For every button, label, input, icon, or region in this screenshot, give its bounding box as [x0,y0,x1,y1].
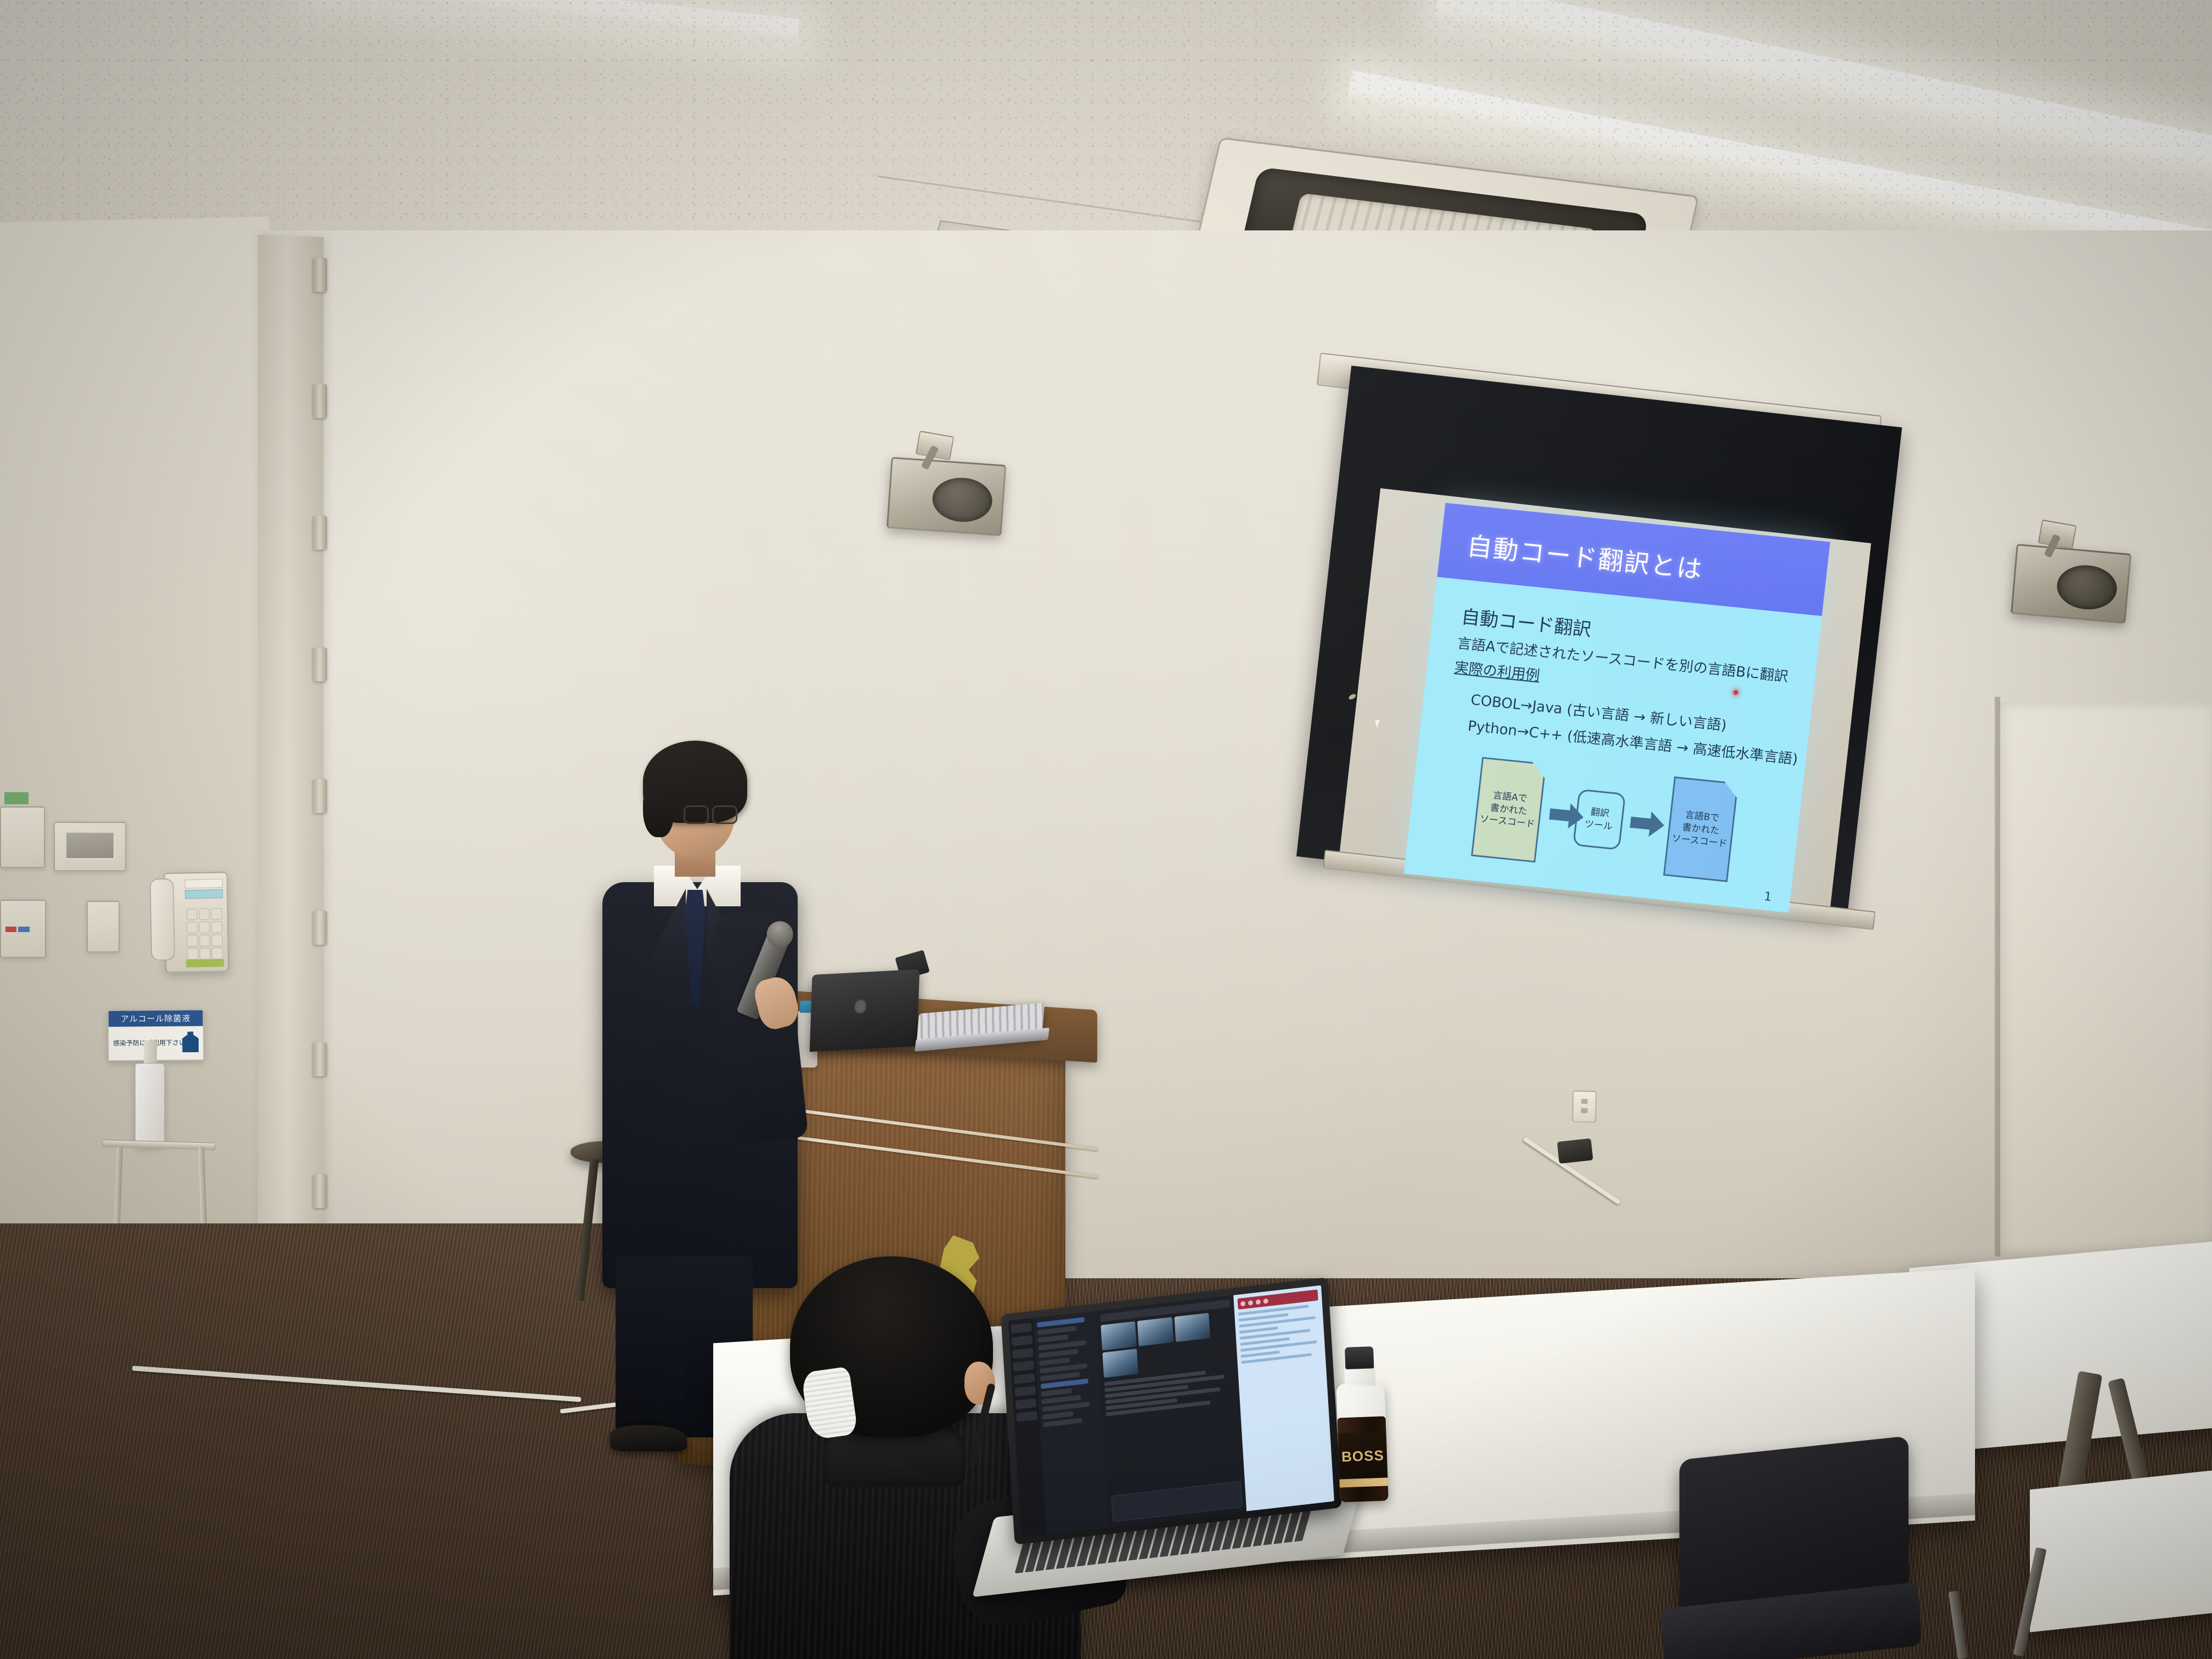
ceiling-light-strip [306,0,800,44]
document-window[interactable] [1233,1285,1334,1511]
coffee-bottle-cap [1345,1346,1374,1369]
slide-diagram: 言語Aで 書かれた ソースコード 翻訳 ツール 言語Bで 書かれた ソースコード [1404,746,1803,911]
projected-slide: 自動コード翻訳とは 自動コード翻訳 言語Aで記述されたソースコードを別の言語Bに… [1404,503,1830,912]
speaker-cone-icon [931,476,994,524]
toolbar-button-icon[interactable] [1256,1299,1261,1305]
coffee-brand-label: BOSS [1338,1431,1388,1480]
speaker-cone-icon [2055,563,2119,612]
presenter-shoe [610,1425,687,1452]
hand-sanitizer-icon [182,1031,199,1052]
wall-corner-edge [1995,697,2000,1256]
toolbar-button-icon[interactable] [1263,1298,1268,1304]
app-rail-icon[interactable] [1014,1373,1035,1384]
wall-panel-hinge [313,516,327,550]
image-thumbnail[interactable] [1101,1321,1137,1350]
coffee-bottle: BOSS [1330,1346,1393,1502]
eyeglasses-icon [684,805,736,822]
left-wall-face [0,217,269,1385]
toolbar-button-icon[interactable] [1240,1301,1245,1306]
channel-item[interactable] [1042,1411,1074,1419]
phone-keypad[interactable] [187,908,223,960]
alarm-indicator-blue [18,927,29,932]
channel-item[interactable] [1043,1418,1082,1427]
toolbar-button-icon[interactable] [1248,1300,1253,1305]
laptop-lid [1001,1277,1342,1545]
wall-panel-hinge [313,647,327,681]
projection-screen-assembly: 自動コード翻訳とは 自動コード翻訳 言語Aで記述されたソースコードを別の言語Bに… [1306,384,1898,905]
light-dimmer-switch[interactable] [87,901,120,952]
app-rail-icon[interactable] [1014,1386,1036,1397]
seminar-room-photo: 自動コード翻訳とは 自動コード翻訳 言語Aで記述されたソースコードを別の言語Bに… [0,0,2212,1659]
fire-extinguisher-label-box [0,900,46,958]
wall-power-outlet[interactable] [1572,1091,1596,1123]
ac-control-panel[interactable] [54,822,126,871]
app-rail-icon[interactable] [1012,1335,1033,1346]
arrow-right-icon [1629,810,1666,838]
document-line [1241,1351,1279,1358]
image-thumbnail-grid[interactable] [1101,1312,1216,1378]
diagram-source-document: 言語Aで 書かれた ソースコード [1471,757,1547,863]
ceiling-light-strip [1433,0,2212,188]
wall-panel-hinge [313,258,327,292]
alarm-indicator-red [5,927,16,932]
channel-item[interactable] [1037,1326,1077,1335]
slide-line-examples-label: 実際の利用例 [1454,656,1541,685]
coffee-bottle-neck [1344,1366,1375,1387]
wall-panel-hinge [313,779,327,813]
wall-speaker-left [887,457,1007,536]
wall-telephone[interactable] [163,872,229,973]
channel-item[interactable] [1037,1317,1085,1328]
right-wall-recess [1997,702,2212,1256]
speaker-body [2011,544,2131,624]
document-text-lines [1238,1304,1321,1364]
channel-item[interactable] [1038,1334,1069,1342]
audience-laptop[interactable] [1001,1277,1342,1545]
phone-label-blue [185,889,223,899]
diagram-target-document: 言語Bで 書かれた ソースコード [1663,776,1739,882]
chat-message-pane[interactable] [1096,1295,1246,1527]
diagram-translation-tool: 翻訳 ツール [1573,789,1626,850]
phone-indicator-strip [186,959,224,967]
app-rail-icon[interactable] [1015,1398,1037,1409]
alarm-indicator-green [4,792,29,804]
image-thumbnail[interactable] [1174,1313,1210,1342]
presenter-macbook[interactable] [810,969,920,1052]
channel-item[interactable] [1039,1357,1070,1365]
sanitizer-pump[interactable] [144,1040,157,1066]
floor-power-box [1557,1138,1593,1164]
phone-handset[interactable] [150,878,176,961]
wall-panel-hinge [313,384,327,418]
laser-pointer-dot [1733,690,1739,695]
app-rail-icon[interactable] [1016,1411,1037,1422]
app-rail-icon[interactable] [1011,1323,1032,1334]
slide-page-number: 1 [1763,890,1773,904]
app-rail-icon[interactable] [1013,1361,1034,1372]
channel-item[interactable] [1039,1349,1078,1358]
side-table-right-lower [2030,1462,2212,1632]
wall-panel-hinge [313,1174,327,1208]
alarm-color-strip [5,927,41,932]
laptop-screen[interactable] [1008,1285,1334,1537]
speaker-body [887,457,1007,536]
wall-speaker-right [2011,544,2131,624]
thermostat-display [65,831,115,860]
sanitizer-sign-line1: 感染予防に [113,1039,146,1048]
coffee-label-band [1339,1477,1387,1487]
wall-panel-hinge [313,911,327,945]
wall-panel-hinge [313,1042,327,1076]
image-thumbnail[interactable] [1137,1317,1173,1346]
chat-message-input[interactable] [1111,1481,1243,1522]
image-thumbnail[interactable] [1102,1348,1138,1378]
channel-item[interactable] [1041,1388,1073,1396]
emergency-alarm-box[interactable] [0,806,45,868]
sanitizer-sign-title: アルコール除菌液 [109,1010,203,1026]
slide-body: 自動コード翻訳 言語Aで記述されたソースコードを別の言語Bに翻訳 実際の利用例 … [1404,577,1822,913]
presenter-hair-side [643,780,674,837]
sanitizer-bottle [135,1063,165,1145]
phone-label-top [184,879,223,888]
document-line [1239,1327,1278,1334]
app-rail-icon[interactable] [1012,1348,1034,1359]
apple-logo-icon [854,998,867,1013]
